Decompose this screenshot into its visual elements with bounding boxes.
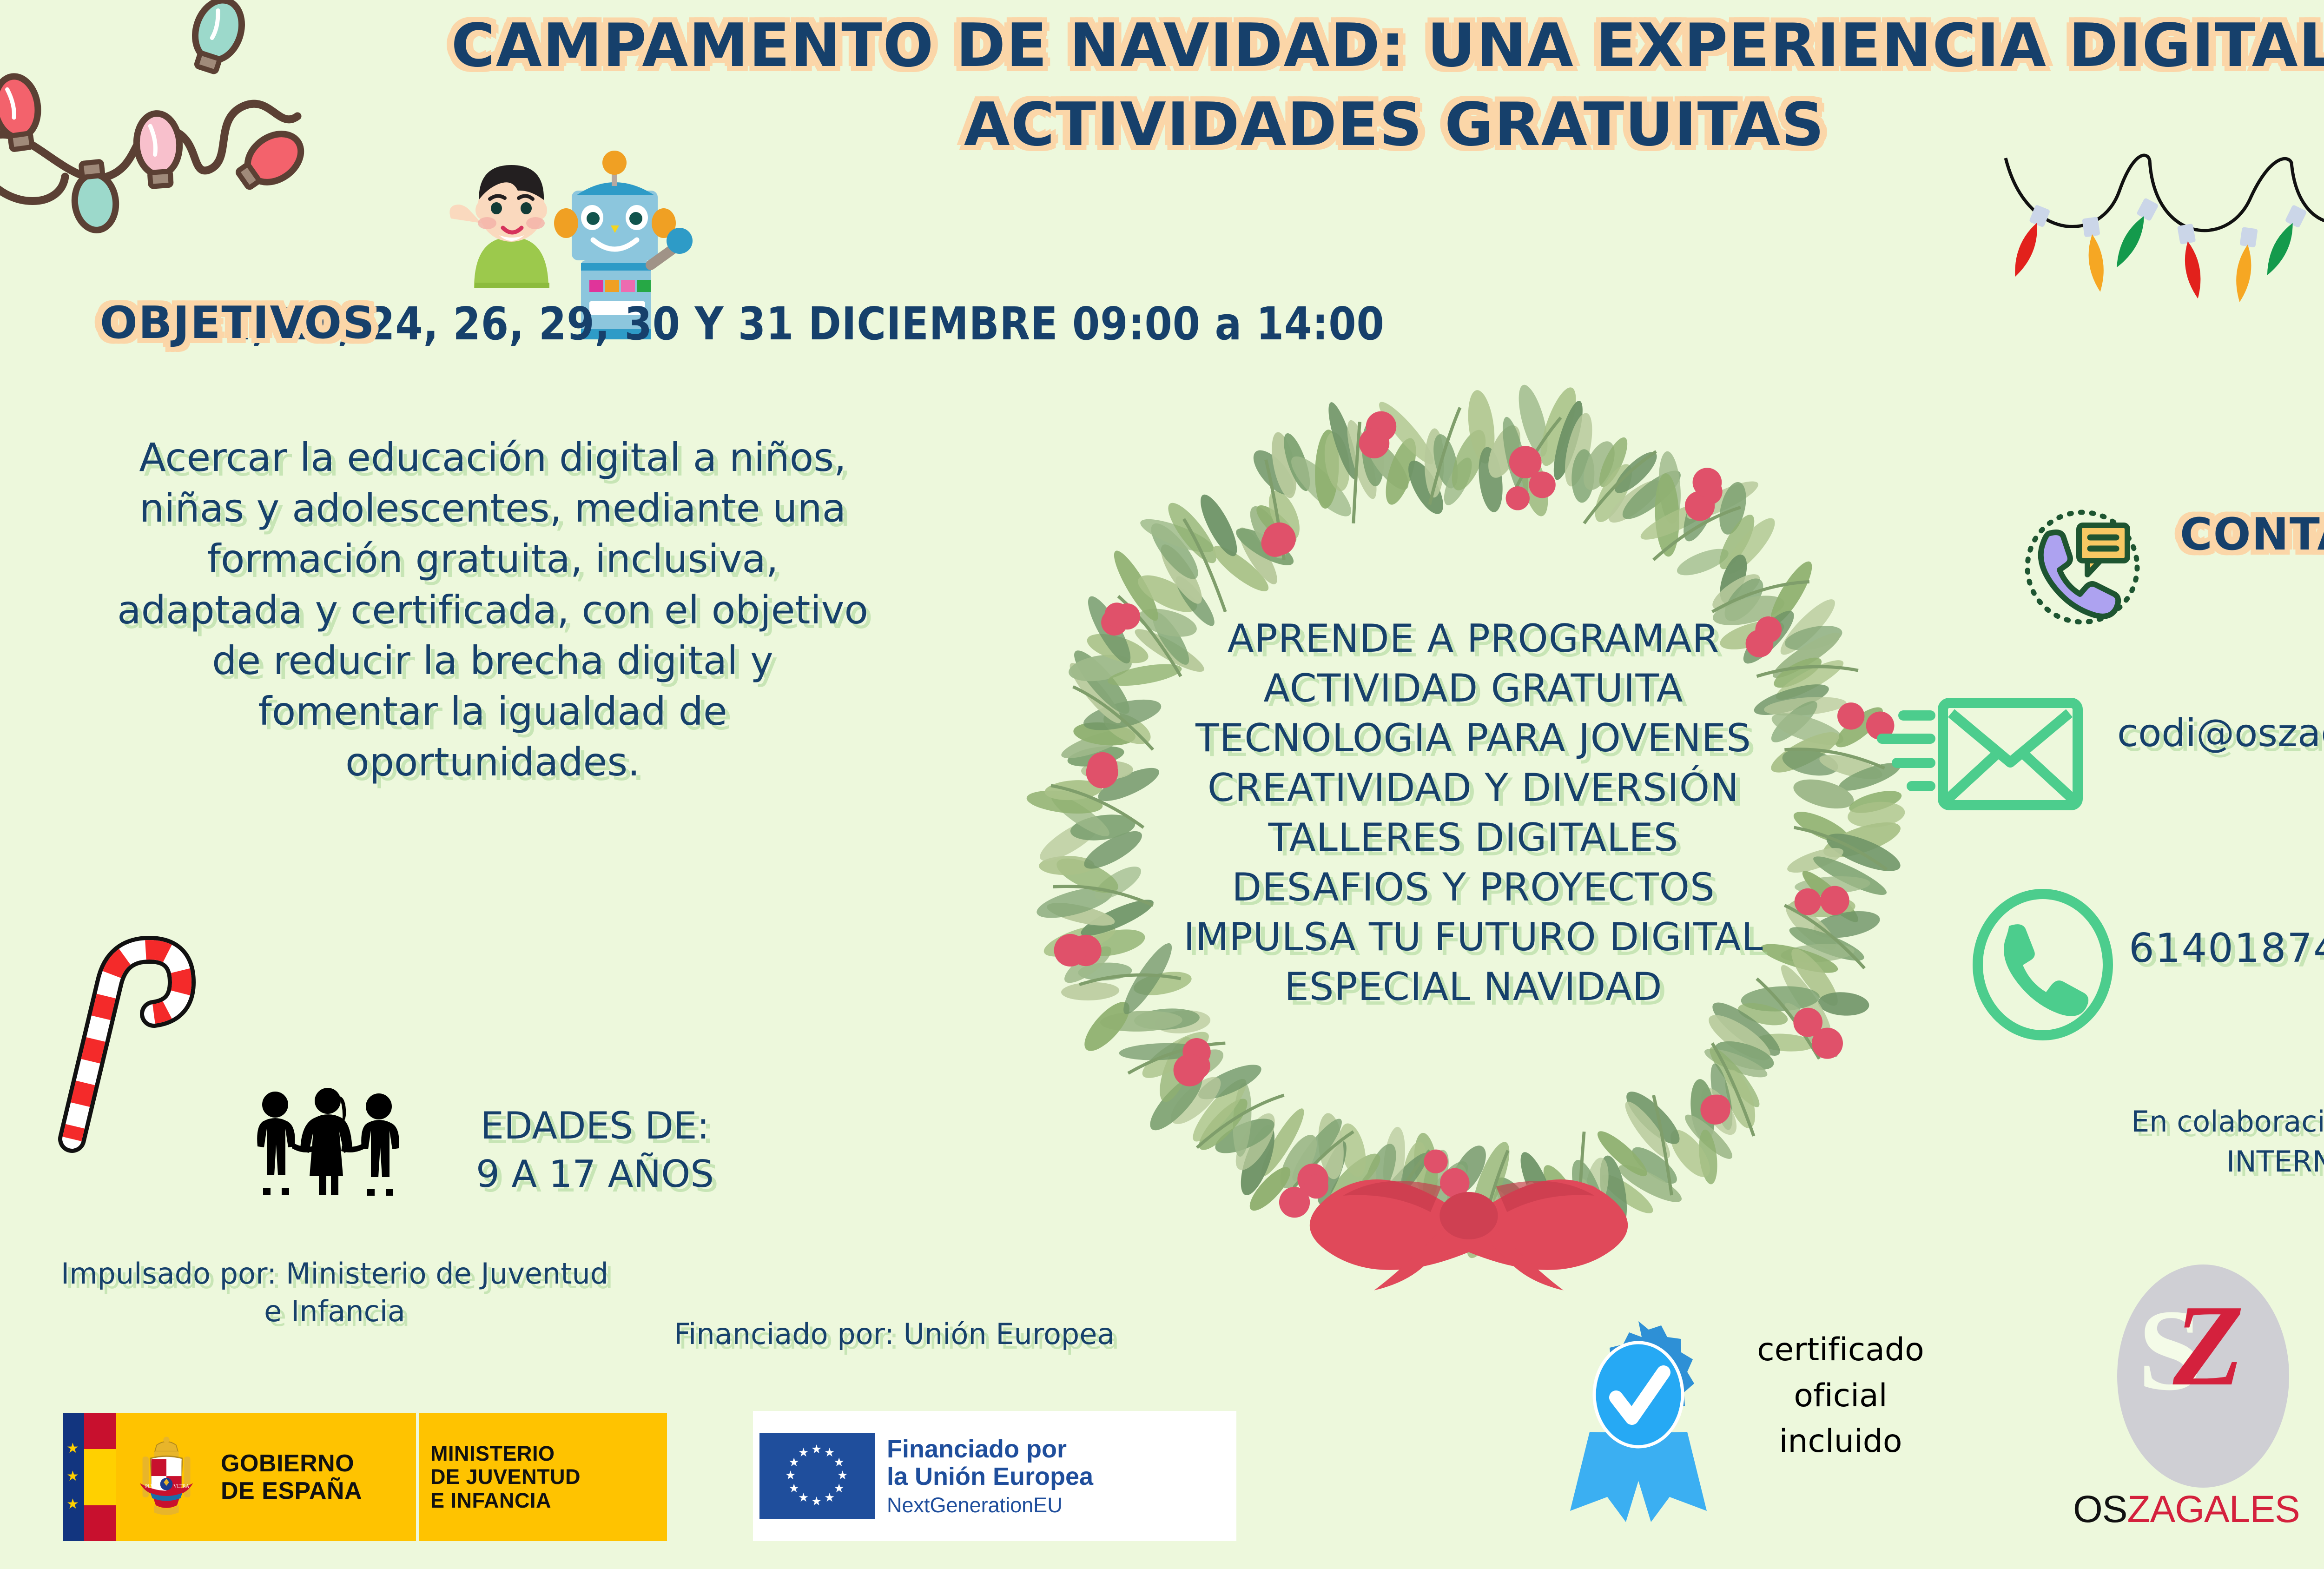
eu-star-icon: ★ <box>833 1456 844 1468</box>
eu-star-icon: ★ <box>811 1443 822 1455</box>
gobierno-line1: GOBIERNO <box>221 1450 416 1477</box>
wreath-activity-item: DESAFIOS Y PROYECTOS <box>1069 862 1878 912</box>
wreath-berry <box>1359 428 1389 458</box>
wreath-berry <box>1174 1054 1206 1086</box>
eu-nextgeneration-logo: ★★★★★★★★★★★★ Financiado por la Unión Eur… <box>753 1411 1236 1541</box>
wreath-berry <box>1279 1187 1310 1218</box>
subtitle-text: ACTIVIDADES GRATUITAS <box>964 90 1825 159</box>
wreath-activities-list: APRENDE A PROGRAMARACTIVIDAD GRATUITATEC… <box>1069 614 1878 1012</box>
wreath-berry <box>1506 486 1530 510</box>
eu-star-icon: ★ <box>798 1446 809 1458</box>
ministerio-line2: DE JUVENTUD <box>430 1465 581 1489</box>
financed-by-text: Financiado por: Unión Europea <box>674 1316 1278 1353</box>
contact-email[interactable]: codi@oszagales.com <box>2117 711 2324 755</box>
wreath-activity-item: ACTIVIDAD GRATUITA <box>1069 663 1878 713</box>
email-envelope-icon <box>1864 693 2087 818</box>
ages-label: EDADES DE: <box>409 1102 781 1150</box>
title-text: CAMPAMENTO DE NAVIDAD: UNA EXPERIENCIA D… <box>451 11 2324 80</box>
wreath-activity-item: ESPECIAL NAVIDAD <box>1069 962 1878 1012</box>
poster-title-line1: CAMPAMENTO DE NAVIDAD: UNA EXPERIENCIA D… <box>0 12 2324 80</box>
ages-range: 9 A 17 AÑOS <box>409 1150 781 1198</box>
eu-star-icon: ★ <box>811 1495 822 1507</box>
objetivos-body-text: Acercar la educación digital a niños, ni… <box>116 432 869 788</box>
wreath-berry <box>1693 468 1722 497</box>
official-certificate-badge-icon <box>1562 1316 1715 1529</box>
eu-star-icon: ★ <box>785 1469 796 1481</box>
collaboration-text: En colaboración: OS ZAGALES Y PLAN INTER… <box>2036 1102 2324 1181</box>
gobierno-de-espana-logo: ★ ★ ★ PLVS <box>63 1413 667 1541</box>
svg-text:PLVS: PLVS <box>145 1483 157 1489</box>
eu-logo-text: Financiado por la Unión Europea NextGene… <box>875 1436 1093 1516</box>
wreath-berry <box>1700 1095 1730 1125</box>
logo-divider <box>416 1413 419 1541</box>
eu-line1: Financiado por <box>887 1436 1093 1463</box>
children-silhouette-icon <box>246 1088 409 1223</box>
gobierno-line2: DE ESPAÑA <box>221 1477 416 1504</box>
hanging-lights-garland-icon <box>1966 126 2324 302</box>
wreath-berry <box>1529 471 1556 498</box>
wreath-activity-item: TALLERES DIGITALES <box>1069 813 1878 862</box>
eu-flag-icon: ★★★★★★★★★★★★ <box>759 1433 875 1519</box>
contact-phone[interactable]: 614018748-954951468 <box>2129 925 2324 972</box>
phone-call-icon <box>1966 888 2119 1041</box>
oszagales-wordmark: OSZAGALES <box>2073 1488 2324 1531</box>
ministerio-label: MINISTERIO DE JUVENTUD E INFANCIA <box>419 1413 581 1541</box>
poster-canvas: CAMPAMENTO DE NAVIDAD: UNA EXPERIENCIA D… <box>0 0 2324 1569</box>
ministerio-line3: E INFANCIA <box>430 1489 581 1512</box>
contacto-section-heading: CONTACTO <box>2180 509 2324 560</box>
svg-text:VLTRA: VLTRA <box>173 1483 189 1489</box>
candy-cane-icon <box>28 902 181 1144</box>
wreath-berry <box>1263 523 1296 556</box>
objetivos-section-heading: OBJETIVOS <box>100 298 376 349</box>
oszagales-mark-z: Z <box>2173 1288 2244 1404</box>
eu-star-icon: ★ <box>798 1491 809 1503</box>
oszagales-logo: S Z OSZAGALES <box>2073 1264 2324 1553</box>
promoted-by-text: Impulsado por: Ministerio de Juventud e … <box>56 1255 614 1330</box>
eu-star-icon: ★ <box>833 1482 844 1494</box>
objetivos-heading-text: OBJETIVOS <box>100 298 376 349</box>
certificate-line3: incluido <box>1729 1419 1952 1465</box>
eu-line3: NextGenerationEU <box>887 1494 1093 1517</box>
eu-star-icon: ★ <box>824 1491 835 1503</box>
eu-star-icon: ★ <box>789 1482 799 1494</box>
ages-info: EDADES DE: 9 A 17 AÑOS <box>409 1102 781 1198</box>
wreath-berry <box>1812 1028 1843 1059</box>
wreath-activity-item: IMPULSA TU FUTURO DIGITAL <box>1069 912 1878 962</box>
phone-chat-contact-icon <box>2020 507 2145 628</box>
eu-line2: la Unión Europea <box>887 1463 1093 1490</box>
spain-coat-of-arms-icon: PLVS VLTRA <box>116 1413 216 1541</box>
wreath-activity-item: APRENDE A PROGRAMAR <box>1069 614 1878 663</box>
gobierno-label: GOBIERNO DE ESPAÑA <box>216 1413 416 1541</box>
ministerio-line1: MINISTERIO <box>430 1442 581 1465</box>
wreath-berry <box>1424 1150 1447 1173</box>
certificate-caption: certificado oficial incluido <box>1729 1327 1952 1465</box>
certificate-line1: certificado <box>1729 1327 1952 1373</box>
spain-eu-flag-icon: ★ ★ ★ <box>63 1413 116 1541</box>
eu-star-icon: ★ <box>837 1469 848 1481</box>
oszagales-suffix: ZAGALES <box>2127 1488 2299 1530</box>
wreath-activity-item: CREATIVIDAD Y DIVERSIÓN <box>1069 763 1878 813</box>
wreath-activity-item: TECNOLOGIA PARA JOVENES <box>1069 713 1878 763</box>
contacto-heading-text: CONTACTO <box>2180 509 2324 560</box>
certificate-line2: oficial <box>1729 1373 1952 1419</box>
oszagales-prefix: OS <box>2073 1488 2127 1530</box>
